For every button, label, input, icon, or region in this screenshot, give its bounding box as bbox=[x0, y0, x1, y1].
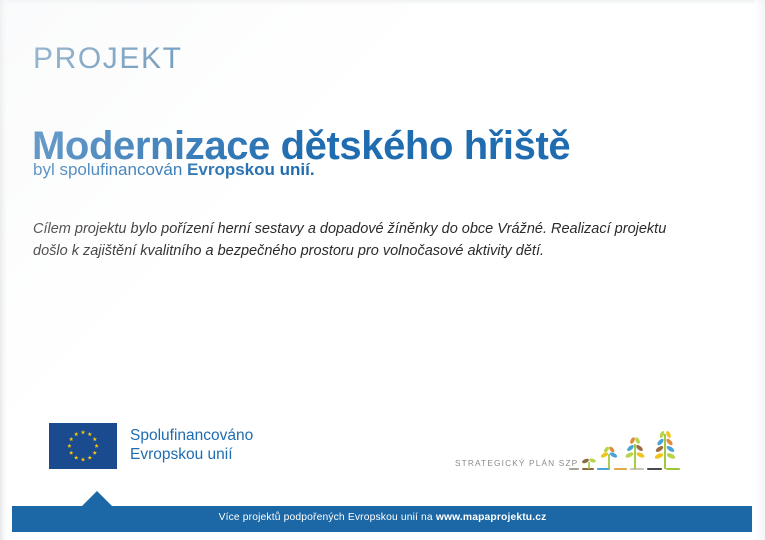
footer-website-link[interactable]: www.mapaprojektu.cz bbox=[436, 512, 547, 523]
funding-subline-bold: Evropskou unií. bbox=[187, 160, 315, 179]
funding-subline-plain: byl spolufinancován bbox=[33, 160, 187, 179]
project-description: Cílem projektu bylo pořízení herní sesta… bbox=[33, 218, 683, 263]
poster-kicker: PROJEKT bbox=[33, 44, 183, 74]
growing-sprouts-icon bbox=[569, 424, 687, 481]
funding-subline: byl spolufinancován Evropskou unií. bbox=[33, 160, 315, 180]
footer-text: Více projektů podpořených Evropskou unií… bbox=[0, 512, 765, 523]
scan-edge-right bbox=[755, 0, 765, 540]
eu-emblem: Spolufinancováno Evropskou unií bbox=[49, 423, 253, 469]
eu-flag-icon bbox=[49, 423, 117, 469]
scan-edge-left bbox=[0, 0, 7, 540]
scan-edge-top bbox=[0, 0, 765, 5]
eu-emblem-caption: Spolufinancováno Evropskou unií bbox=[130, 427, 253, 465]
footer-text-plain: Více projektů podpořených Evropskou unií… bbox=[219, 512, 436, 523]
project-poster: PROJEKT Modernizace dětského hřiště byl … bbox=[0, 0, 765, 540]
footer-notch bbox=[82, 491, 112, 506]
szp-logo-label: STRATEGICKÝ PLÁN SZP bbox=[455, 458, 578, 468]
szp-logo: STRATEGICKÝ PLÁN SZP bbox=[455, 424, 705, 482]
